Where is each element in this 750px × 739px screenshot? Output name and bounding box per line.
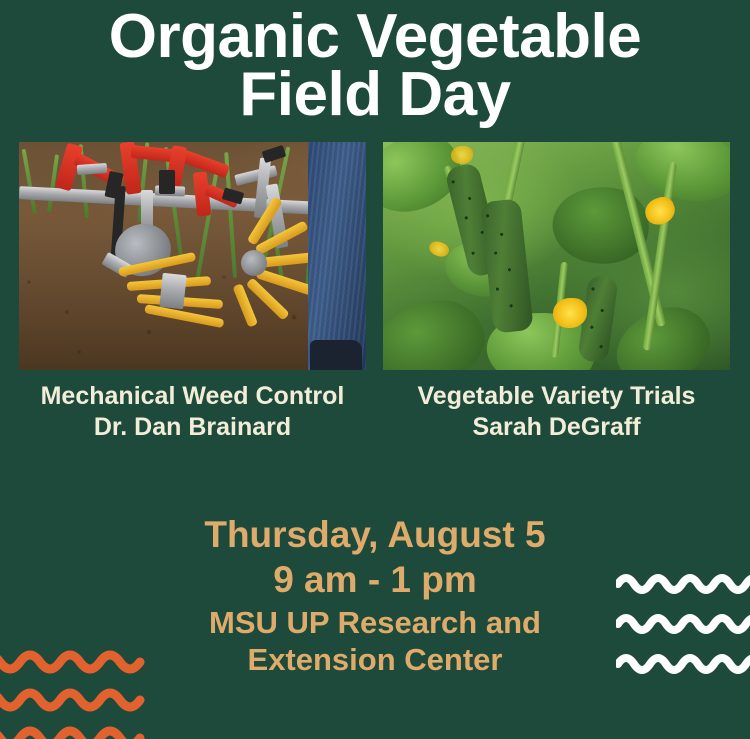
caption-session-1: Mechanical Weed Control Dr. Dan Brainard — [19, 381, 366, 443]
finger-weeder-hub — [241, 250, 267, 276]
flyer-poster: Organic Vegetable Field Day — [0, 0, 750, 739]
orange-wavy-lines-decoration — [0, 648, 149, 739]
title-line-2: Field Day — [0, 66, 750, 124]
cultivator-bracket — [77, 163, 108, 175]
session-presenter: Dr. Dan Brainard — [19, 412, 366, 443]
person-boot — [310, 340, 362, 370]
event-venue: MSU UP Research and Extension Center — [135, 604, 615, 678]
cucumber-blossom — [553, 298, 587, 328]
finger-weeder-hub — [159, 273, 186, 309]
session-presenter: Sarah DeGraff — [383, 412, 730, 443]
page-title: Organic Vegetable Field Day — [0, 8, 750, 124]
title-line-1: Organic Vegetable — [0, 8, 750, 66]
photo-mechanical-weed-control — [19, 142, 366, 370]
cucumber-blossom — [451, 146, 473, 164]
session-topic: Vegetable Variety Trials — [418, 382, 696, 410]
photo-vegetable-variety-trials — [383, 142, 730, 370]
cultivator-clamp — [159, 170, 175, 194]
white-wavy-lines-decoration — [616, 570, 750, 678]
session-topic: Mechanical Weed Control — [41, 382, 345, 410]
person-jeans — [308, 142, 366, 370]
event-date: Thursday, August 5 — [0, 512, 750, 557]
caption-session-2: Vegetable Variety Trials Sarah DeGraff — [383, 381, 730, 443]
